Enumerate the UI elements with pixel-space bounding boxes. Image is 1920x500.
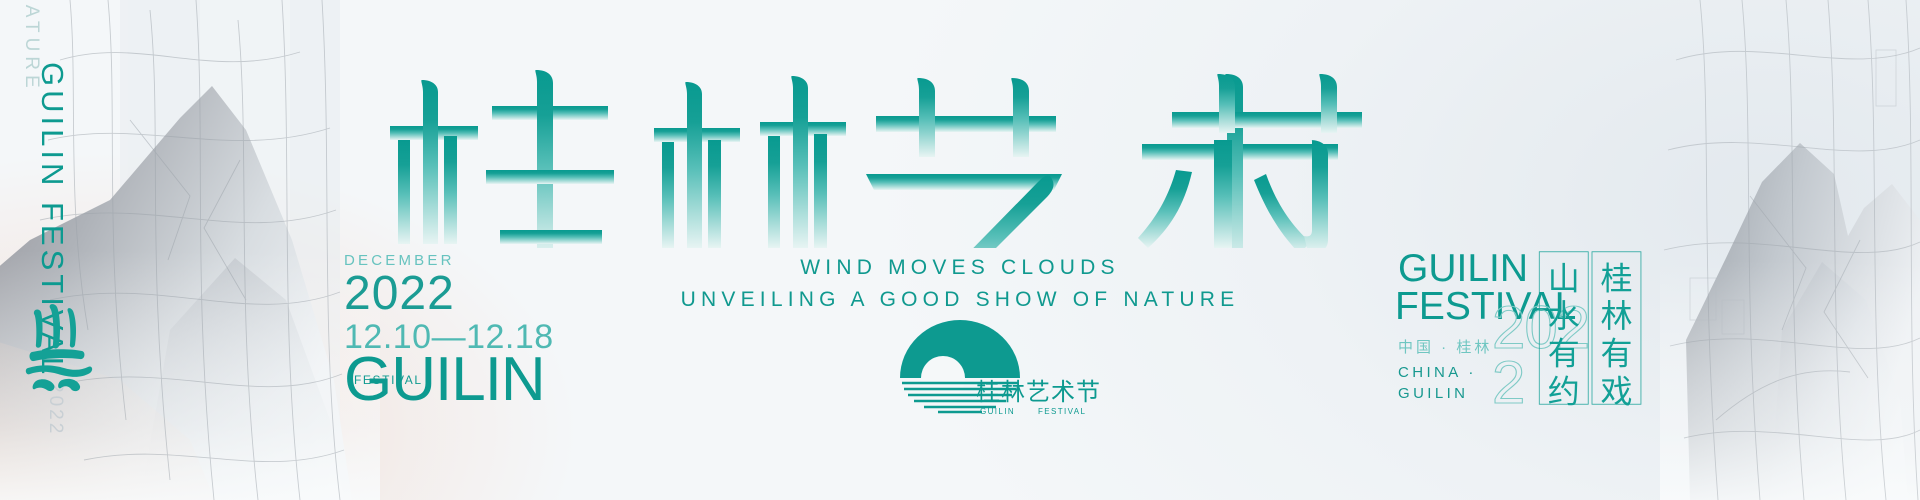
vertical-couplet: 山 水 有 约 桂 林 有 戏	[1532, 248, 1652, 408]
festival-emblem: 桂林艺术节 GUILIN FESTIVAL	[780, 310, 1140, 420]
poster-canvas: NATURE GUILIN FESTIVAL 2022	[0, 0, 1920, 500]
emblem-wordmark-en-2: FESTIVAL	[1038, 407, 1086, 416]
brush-seal-stamp-icon	[24, 300, 94, 396]
couplet-left-c3: 有	[1548, 335, 1580, 373]
couplet-right-c2: 林	[1600, 297, 1632, 335]
couplet-left-c2: 水	[1548, 297, 1580, 335]
emblem-wordmark-en-1: GUILIN	[980, 407, 1015, 416]
emblem-wordmark-cn: 桂林艺术节	[976, 378, 1101, 406]
couplet-left-c4: 约	[1548, 372, 1580, 408]
festival-small-label: FESTIVAL	[354, 373, 423, 387]
couplet-left-c1: 山	[1548, 259, 1580, 297]
tagline-line-1: WIND MOVES CLOUDS	[560, 252, 1360, 284]
tagline-block: WIND MOVES CLOUDS UNVEILING A GOOD SHOW …	[560, 252, 1360, 315]
couplet-right-c4: 戏	[1600, 372, 1632, 408]
couplet-right-c3: 有	[1600, 335, 1632, 373]
couplet-right-c1: 桂	[1600, 259, 1632, 297]
main-title-chinese-tail	[1160, 48, 1390, 248]
left-vertical-rail: NATURE GUILIN FESTIVAL 2022	[14, 0, 72, 500]
guilin-lockup: GUILIN FESTIVAL	[344, 353, 604, 413]
